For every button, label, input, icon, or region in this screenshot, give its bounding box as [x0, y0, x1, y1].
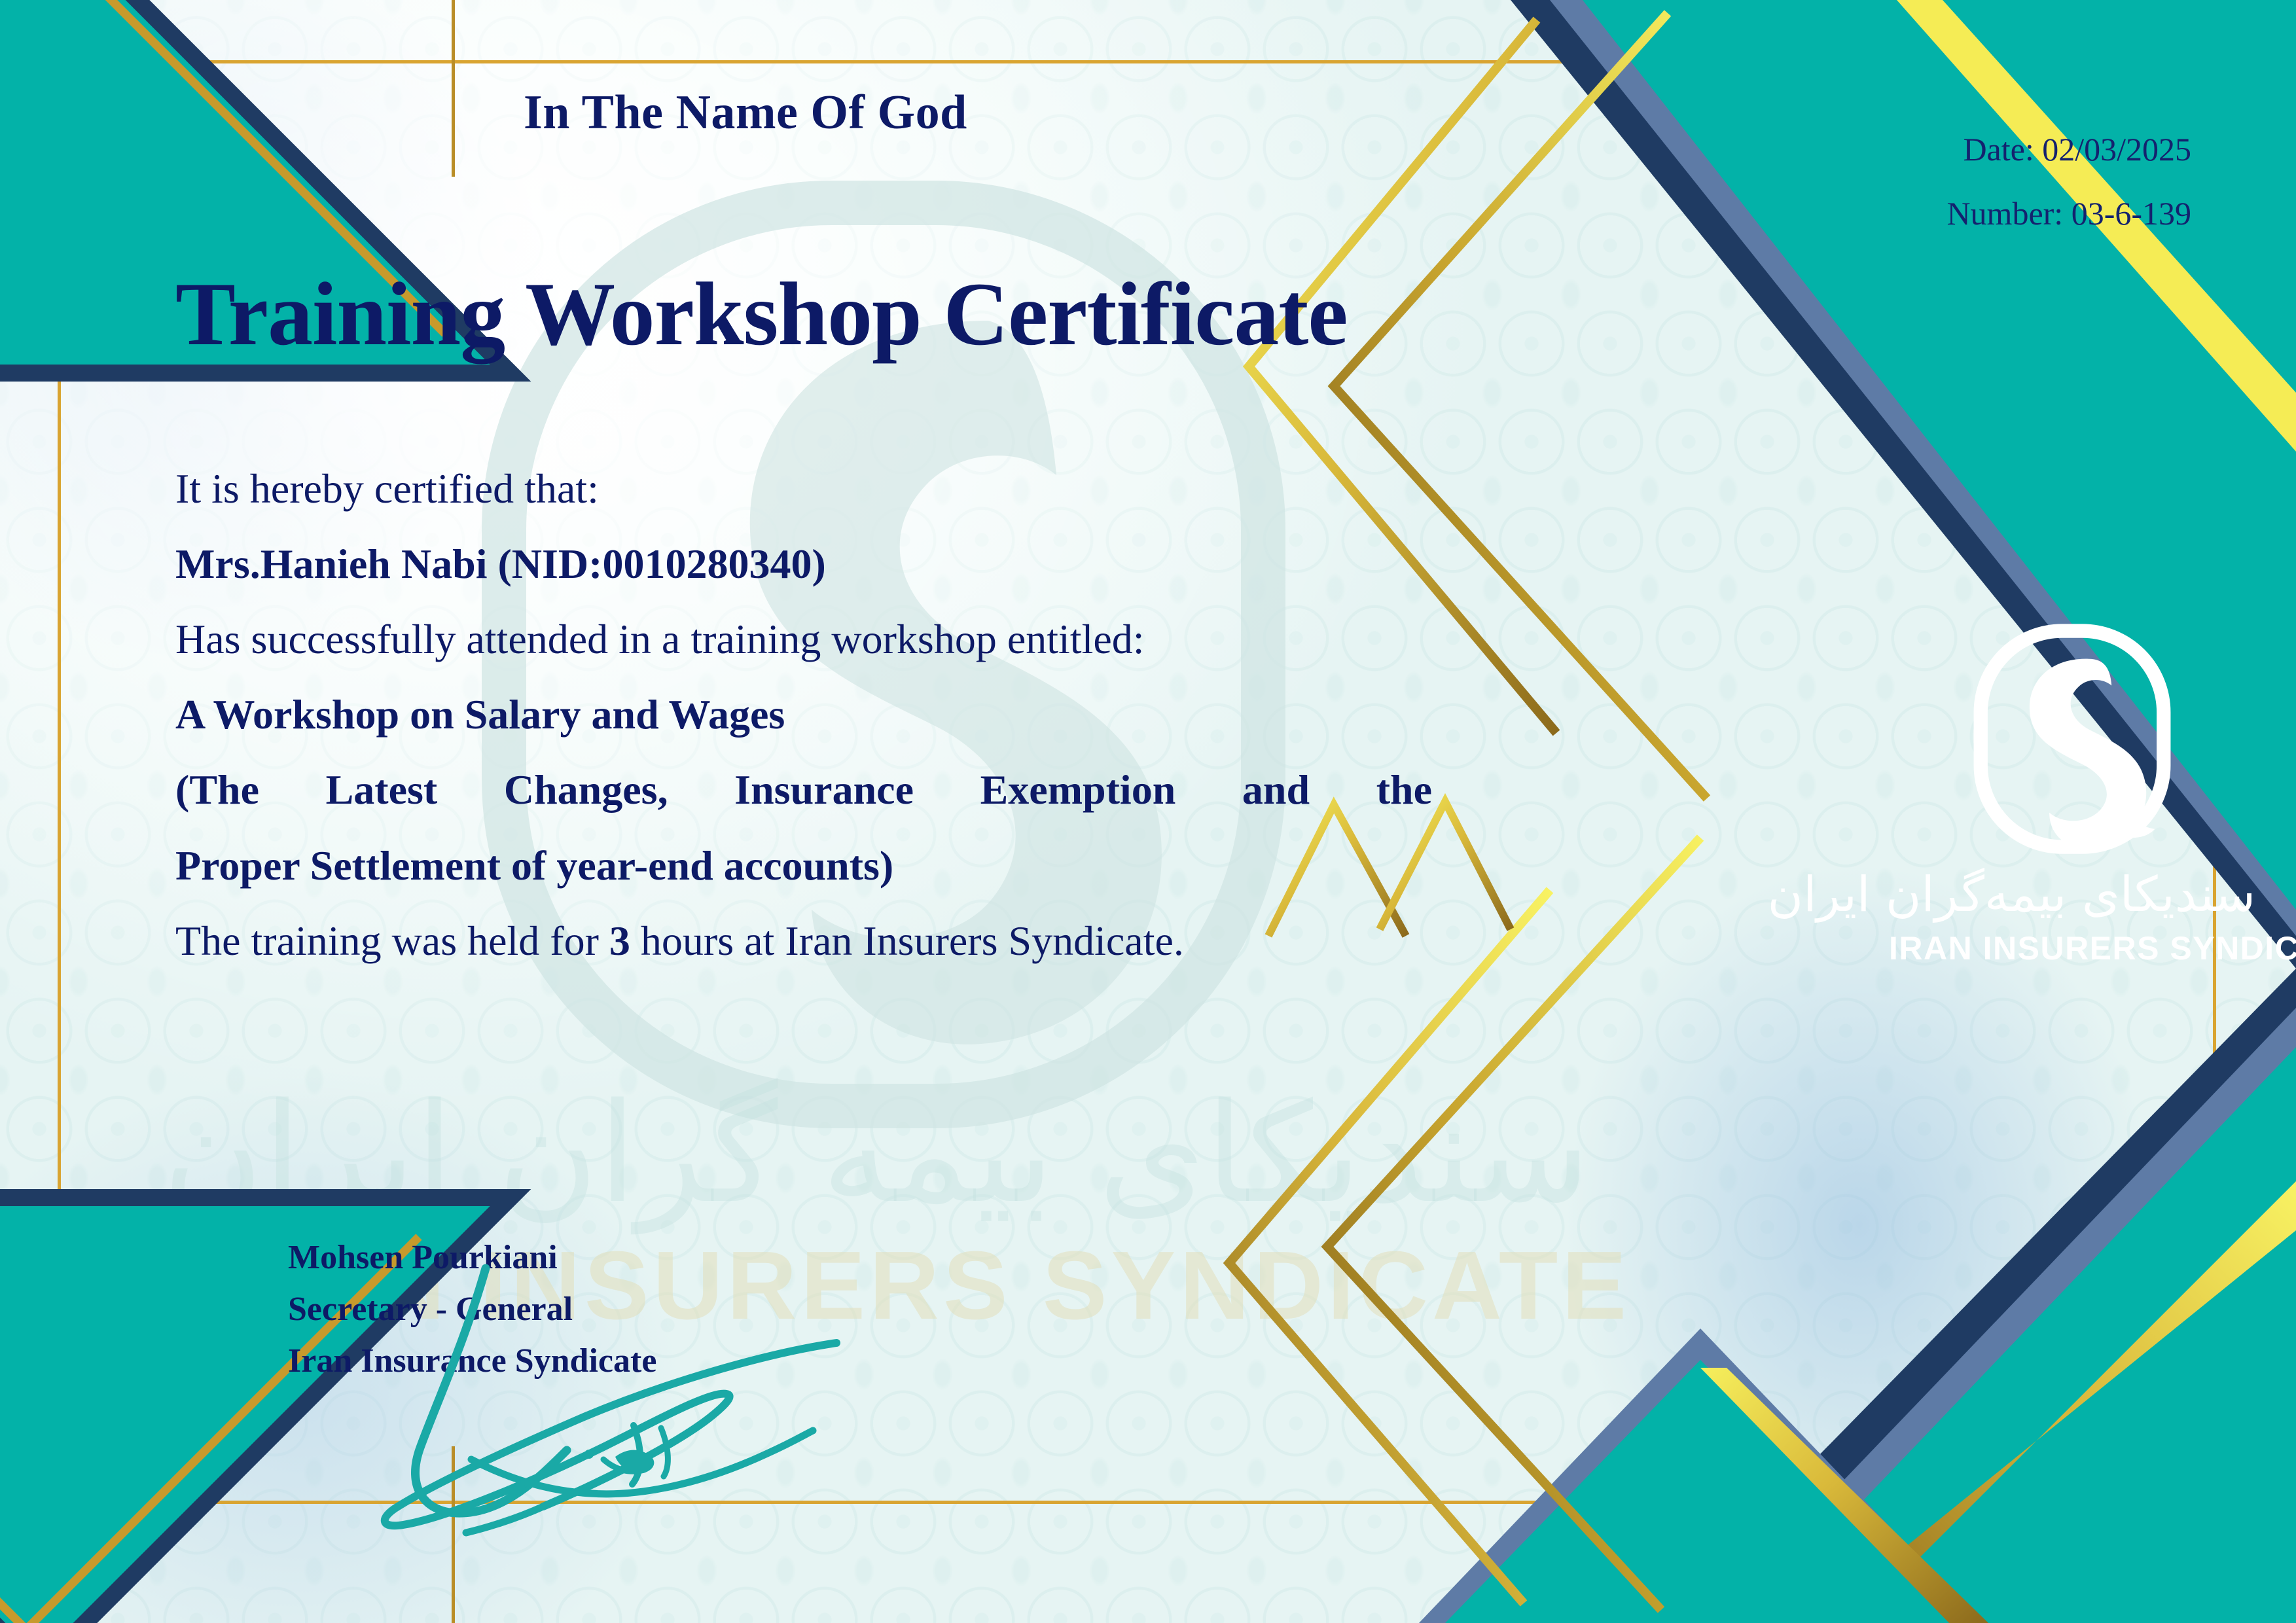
workshop-title: A Workshop on Salary and Wages	[175, 692, 1452, 737]
recipient-name: Mrs.Hanieh Nabi (NID:0010280340)	[175, 541, 1452, 586]
page-title: Training Workshop Certificate	[175, 262, 1348, 366]
signatory-name: Mohsen Pourkiani	[288, 1232, 656, 1283]
syndicate-logo-icon	[1964, 622, 2180, 857]
duration-suffix: hours at Iran Insurers Syndicate.	[630, 918, 1184, 964]
certificate-page: سندیکای بیمه گران ایران IRAN INSURERS SY…	[0, 0, 2296, 1623]
logo-persian-name: سندیکای بیمه‌گران ایران	[1889, 870, 2255, 919]
issue-date: Date: 02/03/2025	[1946, 118, 2191, 182]
chevron-tip-line-top	[452, 0, 455, 177]
workshop-subtitle-line-2: Proper Settlement of year-end accounts)	[175, 843, 1452, 888]
signatory-organization: Iran Insurance Syndicate	[288, 1335, 656, 1387]
certificate-number: Number: 03-6-139	[1946, 182, 2191, 246]
duration-hours: 3	[609, 918, 630, 964]
syndicate-logo: سندیکای بیمه‌گران ایران IRAN INSURERS SY…	[1889, 622, 2255, 969]
certify-line: It is hereby certified that:	[175, 466, 1452, 511]
certificate-meta: Date: 02/03/2025 Number: 03-6-139	[1946, 118, 2191, 245]
attended-line: Has successfully attended in a training …	[175, 616, 1452, 662]
duration-line: The training was held for 3 hours at Ira…	[175, 918, 1452, 963]
bismillah-heading: In The Name Of God	[524, 85, 967, 141]
signature-block: Mohsen Pourkiani Secretary - General Ira…	[288, 1232, 656, 1387]
workshop-subtitle-line-1: (The Latest Changes, Insurance Exemption…	[175, 767, 1432, 812]
duration-prefix: The training was held for	[175, 918, 609, 964]
signatory-role: Secretary - General	[288, 1283, 656, 1335]
logo-english-name: IRAN INSURERS SYNDICATE	[1889, 929, 2255, 967]
certificate-body: It is hereby certified that: Mrs.Hanieh …	[175, 466, 1452, 993]
chevron-tip-line-bottom	[452, 1446, 455, 1623]
